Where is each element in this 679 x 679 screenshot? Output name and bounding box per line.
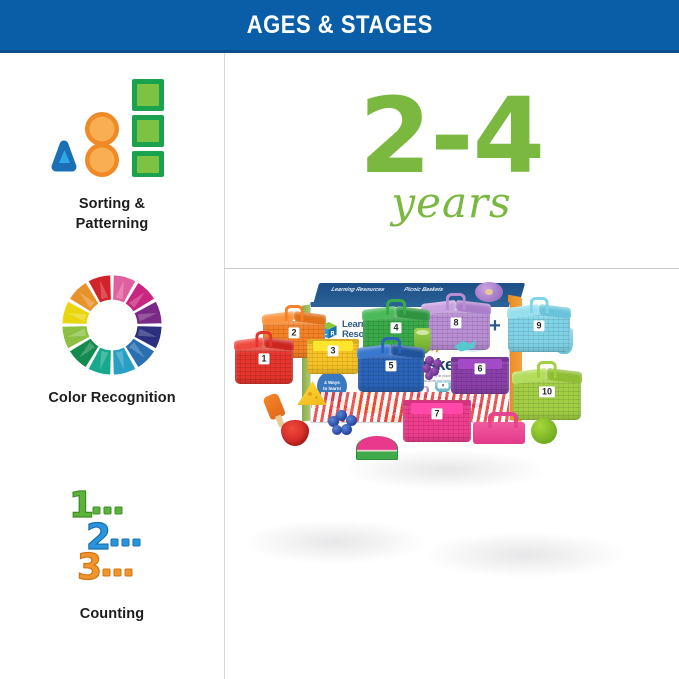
feature-sorting-patterning: Sorting &Patterning <box>0 71 224 234</box>
grapes <box>421 356 443 380</box>
box-art-basket: 6 <box>469 392 484 407</box>
basket-1: 1 <box>235 332 293 384</box>
color-wheel-icon <box>60 273 164 377</box>
basket-3: 3 <box>307 326 359 374</box>
donut <box>475 282 503 302</box>
basket-number: 8 <box>450 317 461 328</box>
shadow <box>245 520 425 564</box>
pink-basket-lid <box>473 422 525 444</box>
basket-number: 10 <box>539 386 555 397</box>
basket-number: 1 <box>258 353 269 364</box>
feature-label: Color Recognition <box>48 389 175 409</box>
svg-text:3: 3 <box>77 547 102 588</box>
bird-toy <box>454 338 476 352</box>
page-title: AGES & STAGES <box>246 11 432 40</box>
basket-number: 4 <box>390 322 401 333</box>
box-top-brand: Learning Resources <box>329 287 385 293</box>
feature-label: Counting <box>80 605 144 625</box>
basket-9: 9 <box>508 298 570 352</box>
basket-number: 7 <box>431 408 442 419</box>
basket-7: 7 <box>403 384 471 442</box>
shapes-sorting-icon <box>50 71 174 183</box>
age-range-unit: years <box>391 182 511 224</box>
shadow <box>425 532 625 578</box>
basket-number: 3 <box>327 345 338 356</box>
watermelon-slice <box>356 436 398 460</box>
horizontal-divider <box>224 268 679 269</box>
feature-label: Sorting &Patterning <box>76 195 149 234</box>
basket-number: 6 <box>474 363 485 374</box>
infographic-page: AGES & STAGES <box>0 0 679 679</box>
box-top-title: Picnic Baskets <box>402 287 444 293</box>
blueberries <box>328 410 360 436</box>
apple <box>531 418 557 444</box>
numbers-counting-icon: 1 2 3 <box>53 483 171 593</box>
features-sidebar: Sorting &Patterning Color Recognition 1 … <box>0 53 224 679</box>
basket-number: 9 <box>533 320 544 331</box>
feature-counting: 1 2 3 Counting <box>0 483 224 625</box>
basket-10: 10 <box>513 362 581 420</box>
basket-number: 5 <box>385 360 396 371</box>
age-range-value: 2-4 <box>359 93 544 180</box>
strawberry <box>281 420 309 446</box>
header-banner: AGES & STAGES <box>0 0 679 50</box>
feature-color-recognition: Color Recognition <box>0 273 224 409</box>
product-photo: Learning Resources Picnic Baskets L R Le… <box>225 270 679 679</box>
cheese-wedge <box>296 380 328 406</box>
age-range-block: 2-4 years <box>224 53 679 268</box>
